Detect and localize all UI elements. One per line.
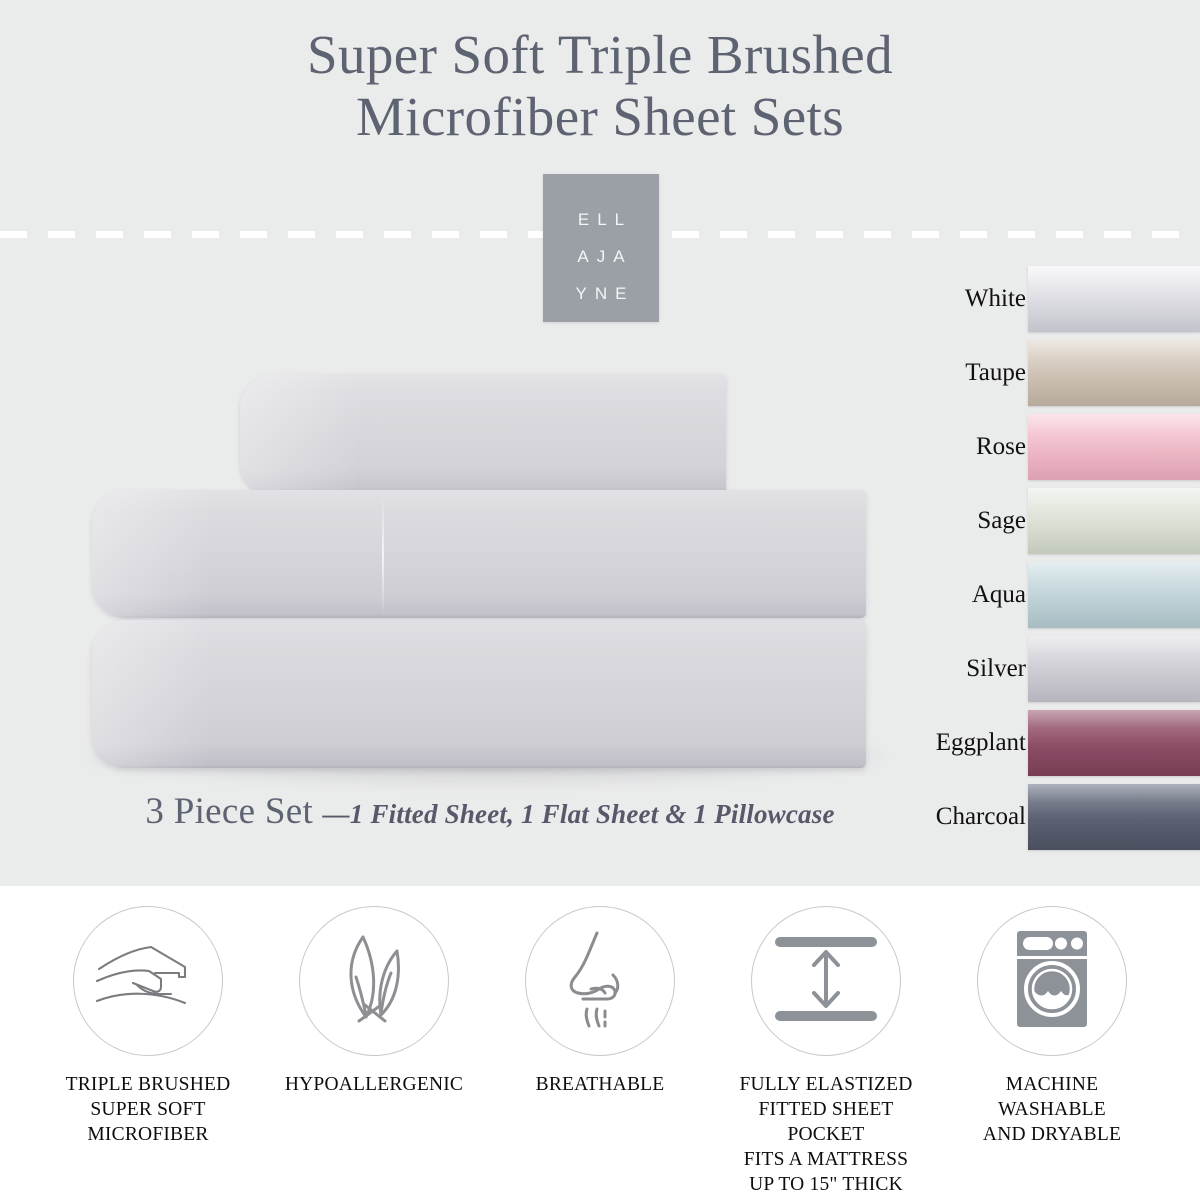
feature-icon-circle xyxy=(751,906,901,1056)
hem-stitch-line xyxy=(382,496,384,614)
swatch-row-white[interactable]: White xyxy=(910,262,1200,336)
feature-icon-circle xyxy=(977,906,1127,1056)
swatch-row-taupe[interactable]: Taupe xyxy=(910,336,1200,410)
pillowcase-fold xyxy=(240,374,726,496)
feature-caption: MACHINE WASHABLE AND DRYABLE xyxy=(983,1072,1121,1147)
swatch-chip-eggplant[interactable] xyxy=(1028,710,1200,776)
swatch-gloss xyxy=(1028,266,1200,332)
feature-triple-brushed: TRIPLE BRUSHED SUPER SOFT MICROFIBER xyxy=(40,886,256,1200)
swatch-label: Taupe xyxy=(965,359,1026,387)
caption-line: MICROFIBER xyxy=(66,1122,231,1147)
swatch-row-eggplant[interactable]: Eggplant xyxy=(910,706,1200,780)
swatch-label: Eggplant xyxy=(936,729,1026,757)
swatch-label: White xyxy=(965,285,1026,313)
swatch-chip-taupe[interactable] xyxy=(1028,340,1200,406)
flat-sheet-fold xyxy=(92,490,866,618)
caption-line: TRIPLE BRUSHED xyxy=(66,1072,231,1097)
swatch-gloss xyxy=(1028,784,1200,850)
swatch-row-silver[interactable]: Silver xyxy=(910,632,1200,706)
swatch-gloss xyxy=(1028,710,1200,776)
two-leaves-icon xyxy=(329,929,419,1034)
caption-line: FITS A MATTRESS xyxy=(718,1147,934,1172)
feature-caption: BREATHABLE xyxy=(536,1072,665,1097)
swatch-chip-rose[interactable] xyxy=(1028,414,1200,480)
hand-on-fabric-icon xyxy=(93,933,203,1030)
feature-icon-circle xyxy=(525,906,675,1056)
swatch-label: Charcoal xyxy=(936,803,1026,831)
caption-line: HYPOALLERGENIC xyxy=(285,1072,463,1097)
feature-elastized-pocket: FULLY ELASTIZED FITTED SHEET POCKET FITS… xyxy=(718,886,934,1200)
caption-line: FULLY ELASTIZED xyxy=(718,1072,934,1097)
feature-caption: TRIPLE BRUSHED SUPER SOFT MICROFIBER xyxy=(66,1072,231,1147)
feature-breathable: BREATHABLE xyxy=(492,886,708,1200)
swatch-label: Sage xyxy=(977,507,1026,535)
caption-line: MACHINE xyxy=(983,1072,1121,1097)
washing-machine-icon xyxy=(1009,927,1095,1036)
swatch-row-rose[interactable]: Rose xyxy=(910,410,1200,484)
swatch-label: Silver xyxy=(966,655,1026,683)
caption-line: UP TO 15" THICK xyxy=(718,1172,934,1197)
swatch-label: Rose xyxy=(976,433,1026,461)
swatch-chip-silver[interactable] xyxy=(1028,636,1200,702)
set-contents-caption: 3 Piece Set —1 Fitted Sheet, 1 Flat Shee… xyxy=(60,790,920,833)
swatch-label: Aqua xyxy=(972,581,1026,609)
fitted-sheet-fold xyxy=(92,620,866,768)
swatch-gloss xyxy=(1028,340,1200,406)
swatch-chip-aqua[interactable] xyxy=(1028,562,1200,628)
brand-logo: ELL AJA YNE xyxy=(543,174,659,322)
hero-panel: Super Soft Triple Brushed Microfiber She… xyxy=(0,0,1200,886)
feature-icon-circle xyxy=(299,906,449,1056)
swatch-gloss xyxy=(1028,414,1200,480)
color-swatch-list: White Taupe Rose Sage Aqua Silver Eggpla… xyxy=(910,262,1200,854)
swatch-chip-white[interactable] xyxy=(1028,266,1200,332)
feature-strip: TRIPLE BRUSHED SUPER SOFT MICROFIBER xyxy=(0,886,1200,1200)
swatch-row-aqua[interactable]: Aqua xyxy=(910,558,1200,632)
logo-line-3: YNE xyxy=(543,284,659,304)
swatch-chip-charcoal[interactable] xyxy=(1028,784,1200,850)
caption-line: FITTED SHEET POCKET xyxy=(718,1097,934,1147)
caption-line: AND DRYABLE xyxy=(983,1122,1121,1147)
caption-line: BREATHABLE xyxy=(536,1072,665,1097)
nose-breathing-icon xyxy=(557,927,643,1036)
vertical-double-arrow-icon xyxy=(771,931,881,1032)
feature-machine-washable: MACHINE WASHABLE AND DRYABLE xyxy=(944,886,1160,1200)
logo-line-1: ELL xyxy=(543,210,659,230)
caption-line: SUPER SOFT xyxy=(66,1097,231,1122)
swatch-row-charcoal[interactable]: Charcoal xyxy=(910,780,1200,854)
logo-line-2: AJA xyxy=(543,247,659,267)
feature-hypoallergenic: HYPOALLERGENIC xyxy=(266,886,482,1200)
caption-line: WASHABLE xyxy=(983,1097,1121,1122)
swatch-gloss xyxy=(1028,488,1200,554)
feature-caption: FULLY ELASTIZED FITTED SHEET POCKET FITS… xyxy=(718,1072,934,1197)
feature-icon-circle xyxy=(73,906,223,1056)
set-contents-detail: —1 Fitted Sheet, 1 Flat Sheet & 1 Pillow… xyxy=(323,799,835,829)
swatch-row-sage[interactable]: Sage xyxy=(910,484,1200,558)
sheet-stack-image xyxy=(0,0,920,886)
swatch-chip-sage[interactable] xyxy=(1028,488,1200,554)
set-contents-lead: 3 Piece Set xyxy=(145,791,322,832)
swatch-gloss xyxy=(1028,636,1200,702)
feature-caption: HYPOALLERGENIC xyxy=(285,1072,463,1097)
swatch-gloss xyxy=(1028,562,1200,628)
